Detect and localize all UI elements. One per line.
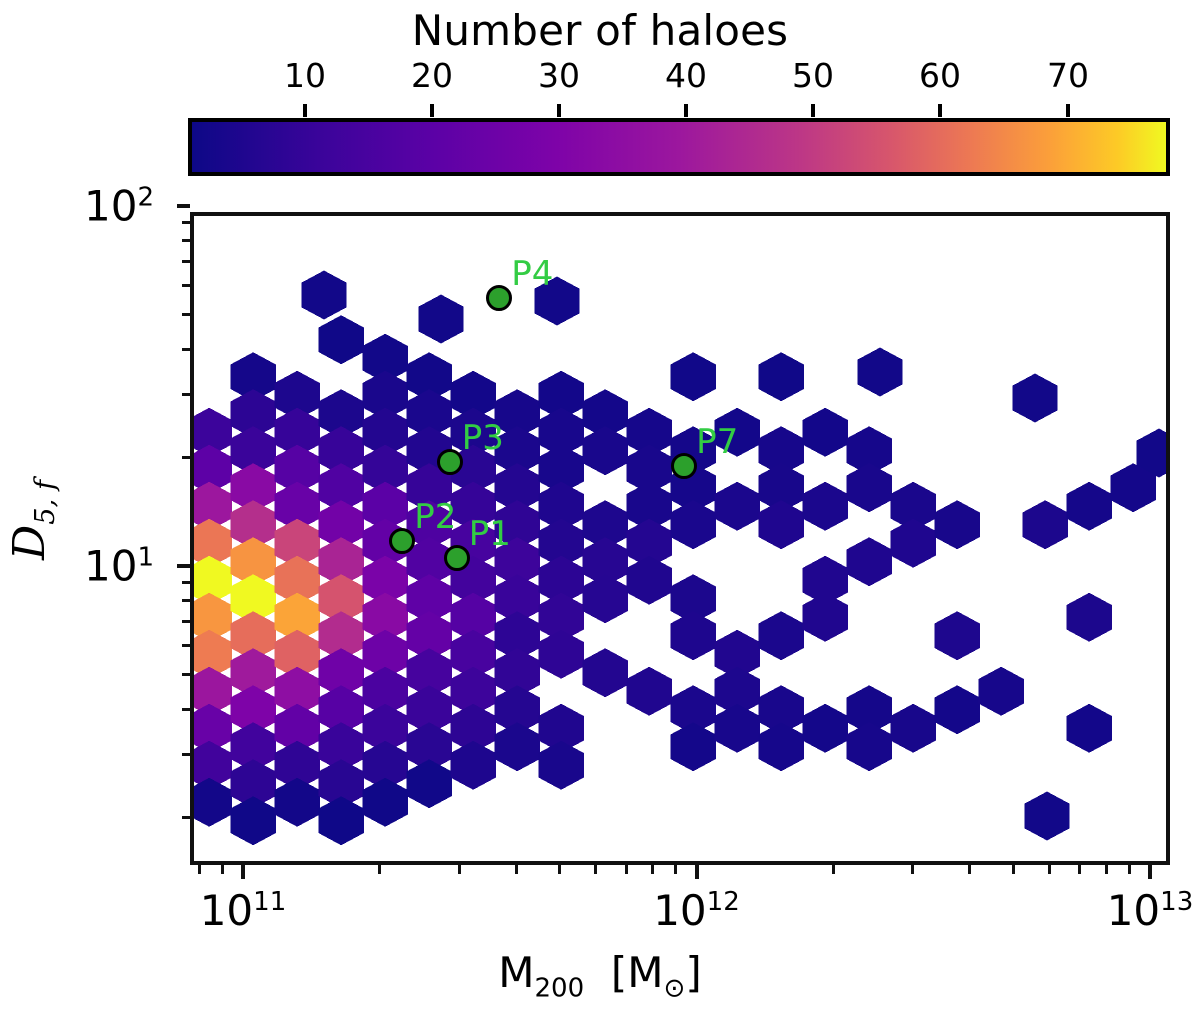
colorbar bbox=[188, 118, 1170, 176]
data-point-p2[interactable] bbox=[389, 528, 415, 554]
x-axis-labels: 101110121013 bbox=[0, 886, 1200, 946]
y-tick-minor bbox=[182, 221, 190, 224]
data-point-label-p4: P4 bbox=[511, 254, 553, 294]
y-tick-minor bbox=[182, 456, 190, 459]
x-tick-label: 1011 bbox=[200, 886, 287, 935]
x-tick-major bbox=[241, 865, 245, 879]
x-tick-minor bbox=[1048, 865, 1051, 874]
plot-area: P1P2P3P4P7 bbox=[190, 212, 1170, 865]
x-tick-minor bbox=[1105, 865, 1108, 874]
colorbar-tick-label: 70 bbox=[1047, 56, 1089, 95]
x-tick-minor bbox=[558, 865, 561, 874]
y-tick-minor bbox=[182, 260, 190, 263]
x-axis-title: M200 [M⊙] bbox=[0, 948, 1200, 997]
x-tick-minor bbox=[832, 865, 835, 874]
colorbar-tick-labels: 10 20 30 40 50 60 70 bbox=[0, 56, 1200, 96]
data-point-label-p1: P1 bbox=[469, 514, 511, 554]
colorbar-gradient bbox=[192, 122, 1166, 172]
colorbar-tick-label: 10 bbox=[284, 56, 326, 95]
y-tick-minor bbox=[182, 753, 190, 756]
data-point-p7[interactable] bbox=[671, 453, 697, 479]
x-tick-minor bbox=[1012, 865, 1015, 874]
x-tick-minor bbox=[594, 865, 597, 874]
y-tick-minor bbox=[182, 599, 190, 602]
x-tick-minor bbox=[1078, 865, 1081, 874]
data-point-label-p2: P2 bbox=[414, 497, 456, 537]
y-tick-minor bbox=[182, 284, 190, 287]
colorbar-title: Number of haloes bbox=[0, 6, 1200, 55]
y-tick-minor bbox=[182, 348, 190, 351]
y-tick-minor bbox=[182, 239, 190, 242]
x-axis bbox=[190, 865, 1170, 885]
marker-layer: P1P2P3P4P7 bbox=[194, 216, 1166, 861]
x-tick-minor bbox=[378, 865, 381, 874]
y-tick-label: 102 bbox=[84, 182, 154, 231]
x-tick-minor bbox=[515, 865, 518, 874]
colorbar-tick-label: 30 bbox=[538, 56, 580, 95]
y-tick-minor bbox=[182, 313, 190, 316]
data-point-p3[interactable] bbox=[437, 449, 463, 475]
y-tick-label: 101 bbox=[84, 542, 154, 591]
colorbar-tick-label: 60 bbox=[919, 56, 961, 95]
y-tick-minor bbox=[182, 673, 190, 676]
x-tick-label: 1012 bbox=[653, 886, 740, 935]
data-point-p1[interactable] bbox=[444, 545, 470, 571]
x-tick-minor bbox=[911, 865, 914, 874]
y-tick-minor bbox=[182, 620, 190, 623]
x-tick-minor bbox=[674, 865, 677, 874]
x-tick-label: 1013 bbox=[1107, 886, 1194, 935]
y-tick-minor bbox=[182, 581, 190, 584]
x-tick-minor bbox=[651, 865, 654, 874]
x-tick-major bbox=[695, 865, 699, 879]
x-tick-minor bbox=[221, 865, 224, 874]
y-axis-title: D5, f bbox=[4, 480, 55, 560]
colorbar-tick-label: 20 bbox=[411, 56, 453, 95]
y-tick-minor bbox=[182, 816, 190, 819]
x-tick-minor bbox=[968, 865, 971, 874]
x-tick-major bbox=[1148, 865, 1152, 879]
y-tick-minor bbox=[182, 708, 190, 711]
x-tick-minor bbox=[198, 865, 201, 874]
colorbar-tick-label: 40 bbox=[665, 56, 707, 95]
data-point-label-p7: P7 bbox=[696, 422, 738, 462]
x-tick-minor bbox=[1128, 865, 1131, 874]
y-tick-minor bbox=[182, 644, 190, 647]
y-tick-major bbox=[177, 204, 190, 208]
figure: Number of haloes 10 20 30 40 50 60 70 P1… bbox=[0, 0, 1200, 1015]
data-point-label-p3: P3 bbox=[462, 418, 504, 458]
y-tick-major bbox=[177, 564, 190, 568]
x-tick-minor bbox=[458, 865, 461, 874]
y-tick-minor bbox=[182, 393, 190, 396]
data-point-p4[interactable] bbox=[486, 285, 512, 311]
x-tick-minor bbox=[625, 865, 628, 874]
colorbar-tick-label: 50 bbox=[792, 56, 834, 95]
